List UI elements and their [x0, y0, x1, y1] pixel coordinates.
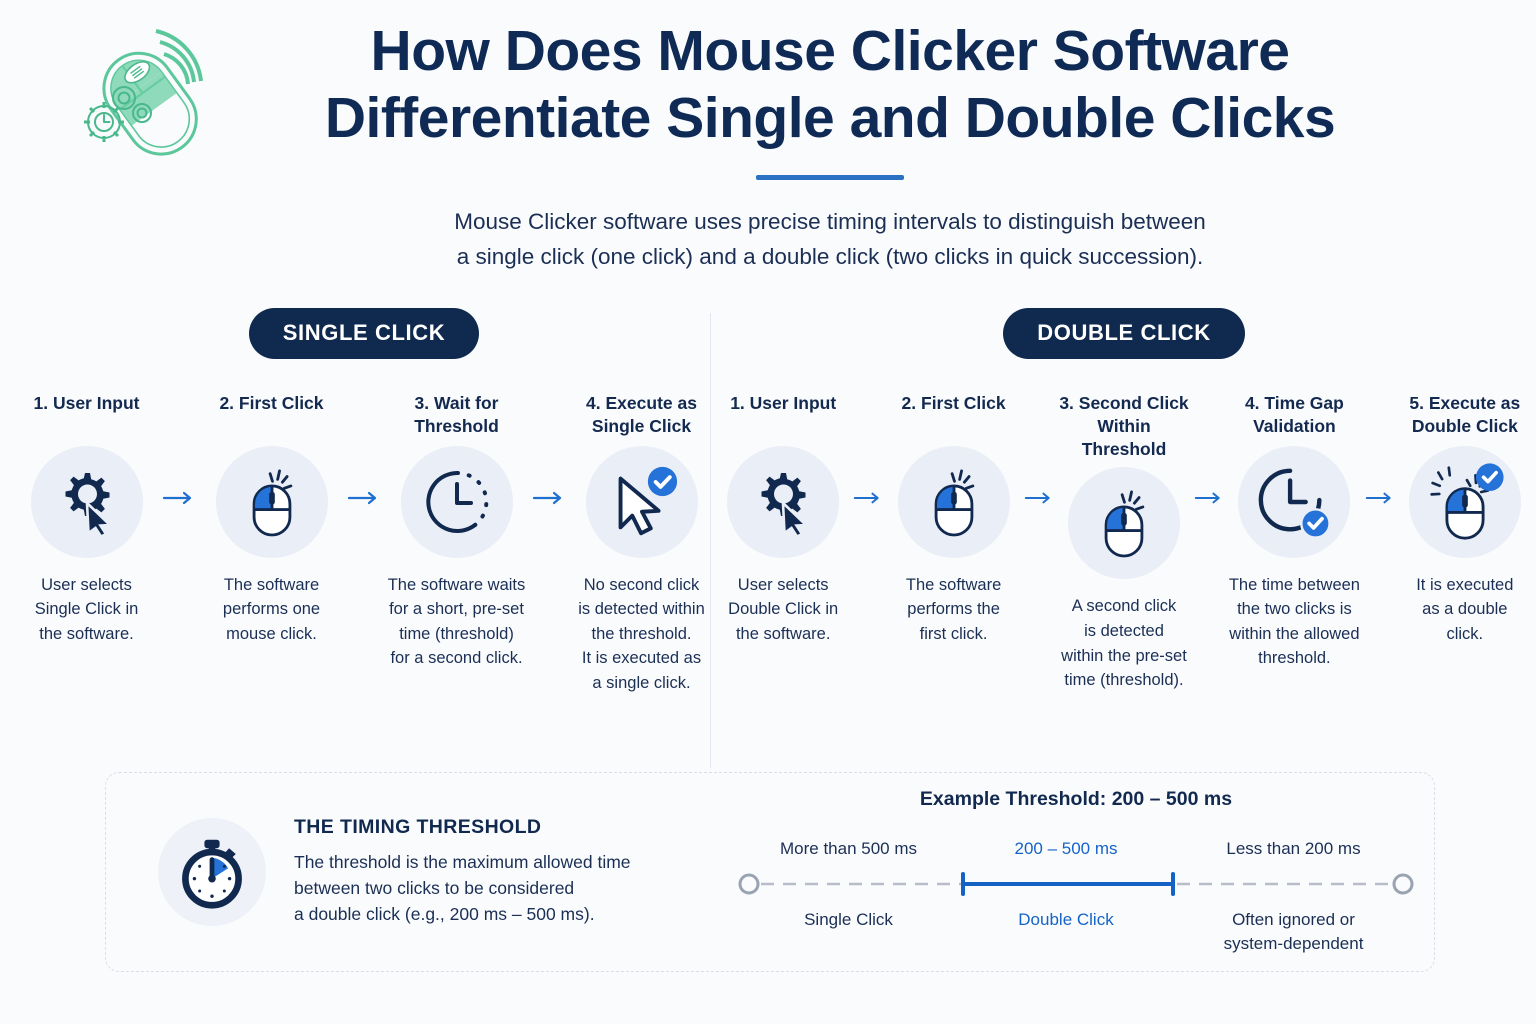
single-step-1-title: 1. User Input: [34, 392, 140, 440]
double-click-flow: DOUBLE CLICK 1. User Input User selectsD…: [714, 308, 1534, 778]
timeline-label-top-2: 200 – 500 ms: [961, 837, 1171, 861]
clock-dashed-icon: [401, 446, 513, 558]
single-step-1-desc: User selectsSingle Click inthe software.: [35, 573, 139, 647]
double-step-3-title-line2: Within Threshold: [1082, 416, 1167, 459]
panel-body-line-3: a double click (e.g., 200 ms – 500 ms).: [294, 904, 595, 924]
double-click-section-pill: DOUBLE CLICK: [1003, 308, 1244, 359]
double-step-1-desc: User selectsDouble Click inthe software.: [728, 573, 838, 647]
double-step-3-title: 3. Second Click Within Threshold: [1055, 392, 1193, 462]
double-step-3-title-line1: 3. Second Click: [1059, 393, 1188, 413]
page-subtitle: Mouse Clicker software uses precise timi…: [380, 204, 1280, 275]
double-step-2: 2. First Click The softwareperforms t: [884, 392, 1022, 693]
single-click-steps: 1. User Input User selectsSingle Click i…: [14, 392, 714, 696]
timeline-label-bottom-2: Double Click: [961, 908, 1171, 956]
double-step-5-desc: It is executedas a doubleclick.: [1416, 573, 1513, 647]
arrow-icon: [1023, 392, 1055, 693]
panel-body: The threshold is the maximum allowed tim…: [294, 850, 631, 928]
threshold-info: THE TIMING THRESHOLD The threshold is th…: [106, 816, 726, 928]
timeline-label-bottom-3-line1: Often ignored or: [1232, 910, 1355, 929]
gear-cursor-icon: [31, 446, 143, 558]
single-step-3: 3. Wait for Threshold The software waits…: [384, 392, 529, 696]
page-title-line-1: How Does Mouse Clicker Software: [371, 19, 1290, 83]
double-step-1-title: 1. User Input: [730, 392, 836, 440]
gear-cursor-icon: [727, 446, 839, 558]
timeline-label-bottom-3: Often ignored or system-dependent: [1171, 908, 1416, 956]
double-click-steps: 1. User Input User selectsDouble Click i…: [714, 392, 1534, 693]
double-step-4-title: 4. Time Gap Validation: [1245, 392, 1344, 440]
panel-body-line-2: between two clicks to be considered: [294, 878, 574, 898]
single-step-3-title-line1: 3. Wait for: [415, 393, 499, 413]
timeline-label-top-3: Less than 200 ms: [1171, 837, 1416, 861]
arrow-icon: [159, 392, 199, 696]
double-step-5-title: 5. Execute as Double Click: [1409, 392, 1520, 440]
page-subtitle-line-1: Mouse Clicker software uses precise timi…: [454, 209, 1206, 234]
double-step-5: 5. Execute as Double Click: [1396, 392, 1534, 693]
timing-threshold-panel: THE TIMING THRESHOLD The threshold is th…: [105, 772, 1435, 972]
page-subtitle-line-2: a single click (one click) and a double …: [457, 244, 1204, 269]
single-step-2-title: 2. First Click: [219, 392, 323, 440]
double-step-4-title-line1: 4. Time Gap: [1245, 393, 1344, 413]
double-step-2-title-line1: 2. First Click: [902, 393, 1006, 413]
single-step-4-title-line1: 4. Execute as: [586, 393, 697, 413]
arrow-icon: [1364, 392, 1396, 693]
double-step-4-title-line2: Validation: [1253, 416, 1336, 436]
arrow-icon: [344, 392, 384, 696]
double-step-1-title-line1: 1. User Input: [730, 393, 836, 413]
double-step-4: 4. Time Gap Validation The time betweent…: [1225, 392, 1363, 693]
arrow-icon: [852, 392, 884, 693]
page-header: How Does Mouse Clicker Software Differen…: [0, 0, 1536, 275]
mouse-double-click-check-icon: [1409, 446, 1521, 558]
single-step-3-desc: The software waitsfor a short, pre-setti…: [388, 573, 526, 671]
panel-heading: THE TIMING THRESHOLD: [294, 816, 631, 839]
timeline-label-top-1: More than 500 ms: [736, 837, 961, 861]
timeline-endpoint-left: [740, 875, 758, 893]
timeline-bottom-labels: Single Click Double Click Often ignored …: [736, 908, 1416, 956]
mouse-single-click-icon: [1068, 467, 1180, 579]
double-step-3: 3. Second Click Within Threshold: [1055, 392, 1193, 693]
single-step-3-title-line2: Threshold: [414, 416, 499, 436]
timeline-title: Example Threshold: 200 – 500 ms: [736, 788, 1416, 811]
double-step-4-desc: The time betweenthe two clicks iswithin …: [1229, 573, 1360, 671]
double-step-5-title-line1: 5. Execute as: [1409, 393, 1520, 413]
panel-body-line-1: The threshold is the maximum allowed tim…: [294, 852, 631, 872]
timeline-top-labels: More than 500 ms 200 – 500 ms Less than …: [736, 837, 1416, 861]
flow-section: SINGLE CLICK 1. User Input User selectsS…: [0, 308, 1536, 778]
single-click-section-pill: SINGLE CLICK: [249, 308, 479, 359]
mouse-single-click-icon: [216, 446, 328, 558]
double-step-1: 1. User Input User selectsDouble Click i…: [714, 392, 852, 693]
cursor-check-icon: [586, 446, 698, 558]
double-step-5-title-line2: Double Click: [1412, 416, 1518, 436]
timeline-label-bottom-3-line2: system-dependent: [1224, 934, 1364, 953]
single-step-2-title-line1: 2. First Click: [219, 393, 323, 413]
arrow-icon: [529, 392, 569, 696]
single-click-flow: SINGLE CLICK 1. User Input User selectsS…: [14, 308, 714, 778]
mouse-single-click-icon: [898, 446, 1010, 558]
single-step-2: 2. First Click The softwareperforms o: [199, 392, 344, 696]
title-underline-accent: [756, 175, 904, 180]
page-title: How Does Mouse Clicker Software Differen…: [230, 18, 1430, 153]
single-step-4-desc: No second clickis detected withinthe thr…: [578, 573, 705, 696]
double-step-3-desc: A second clickis detectedwithin the pre-…: [1061, 594, 1187, 692]
single-step-4-title: 4. Execute as Single Click: [586, 392, 697, 440]
clock-check-icon: [1238, 446, 1350, 558]
single-step-4-title-line2: Single Click: [592, 416, 691, 436]
double-step-2-title: 2. First Click: [902, 392, 1006, 440]
single-step-3-title: 3. Wait for Threshold: [414, 392, 499, 440]
arrow-icon: [1193, 392, 1225, 693]
threshold-timeline: Example Threshold: 200 – 500 ms More tha…: [726, 788, 1416, 955]
timeline-endpoint-right: [1394, 875, 1412, 893]
double-step-2-desc: The softwareperforms thefirst click.: [906, 573, 1001, 647]
single-step-1: 1. User Input User selectsSingle Click i…: [14, 392, 159, 696]
mouse-gear-clock-logo: [68, 20, 218, 160]
single-step-2-desc: The softwareperforms onemouse click.: [223, 573, 320, 647]
single-step-1-title-line1: 1. User Input: [34, 393, 140, 413]
single-step-4: 4. Execute as Single Click No second cli…: [569, 392, 714, 696]
timeline-label-bottom-1: Single Click: [736, 908, 961, 956]
page-title-line-2: Differentiate Single and Double Clicks: [325, 86, 1335, 150]
stopwatch-icon: [158, 818, 266, 926]
timeline-track: [736, 868, 1416, 900]
